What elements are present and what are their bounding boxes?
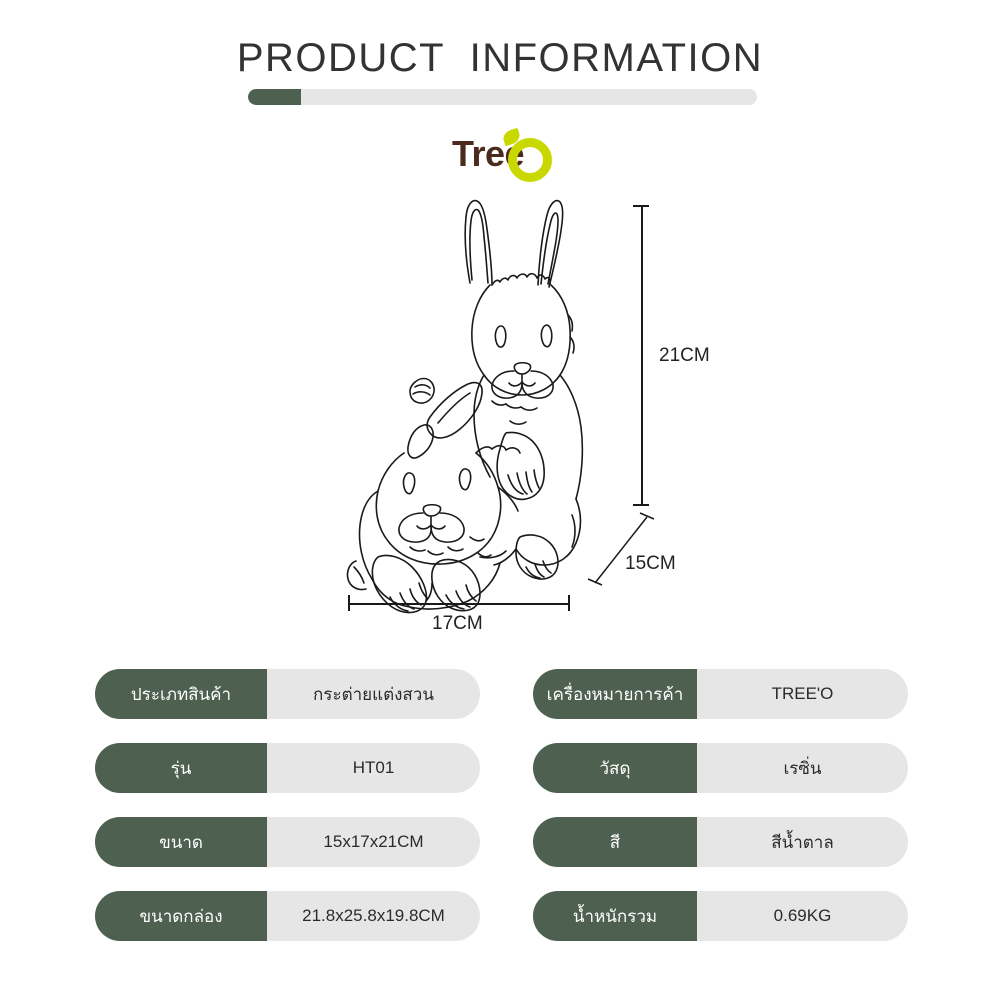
spec-row-color: สี สีน้ำตาล [533, 817, 908, 867]
spec-key: น้ำหนักรวม [533, 891, 697, 941]
depth-dimension-line [585, 505, 665, 595]
spec-row-trademark: เครื่องหมายการค้า TREE'O [533, 669, 908, 719]
spec-value: 15x17x21CM [267, 817, 480, 867]
width-dimension-cap-left [348, 595, 350, 611]
spec-key: สี [533, 817, 697, 867]
spec-value: HT01 [267, 743, 480, 793]
spec-value: กระต่ายแต่งสวน [267, 669, 480, 719]
spec-key: ประเภทสินค้า [95, 669, 267, 719]
width-dimension-line [348, 603, 570, 605]
depth-dimension-label: 15CM [625, 553, 676, 575]
spec-row-gross-weight: น้ำหนักรวม 0.69KG [533, 891, 908, 941]
width-dimension-label: 17CM [432, 613, 483, 635]
progress-bar-fill [248, 89, 301, 105]
spec-row-size: ขนาด 15x17x21CM [95, 817, 480, 867]
spec-value: 21.8x25.8x19.8CM [267, 891, 480, 941]
height-dimension-cap-top [633, 205, 649, 207]
spec-key: เครื่องหมายการค้า [533, 669, 697, 719]
spec-value: TREE'O [697, 669, 908, 719]
spec-value: สีน้ำตาล [697, 817, 908, 867]
spec-row-box-size: ขนาดกล่อง 21.8x25.8x19.8CM [95, 891, 480, 941]
spec-value: 0.69KG [697, 891, 908, 941]
spec-key: ขนาดกล่อง [95, 891, 267, 941]
spec-key: รุ่น [95, 743, 267, 793]
spec-row-product-type: ประเภทสินค้า กระต่ายแต่งสวน [95, 669, 480, 719]
logo-o-ring-icon [508, 138, 552, 182]
height-dimension-label: 21CM [659, 345, 710, 367]
width-dimension-cap-right [568, 595, 570, 611]
spec-row-material: วัสดุ เรซิ่น [533, 743, 908, 793]
spec-key: ขนาด [95, 817, 267, 867]
page-title: PRODUCT INFORMATION [0, 36, 1000, 81]
brand-logo: Tree ' [452, 130, 562, 182]
spec-row-model: รุ่น HT01 [95, 743, 480, 793]
spec-value: เรซิ่น [697, 743, 908, 793]
product-information-page: PRODUCT INFORMATION Tree ' [0, 0, 1000, 1000]
height-dimension-line [641, 205, 643, 505]
spec-key: วัสดุ [533, 743, 697, 793]
progress-bar-track [248, 89, 757, 105]
